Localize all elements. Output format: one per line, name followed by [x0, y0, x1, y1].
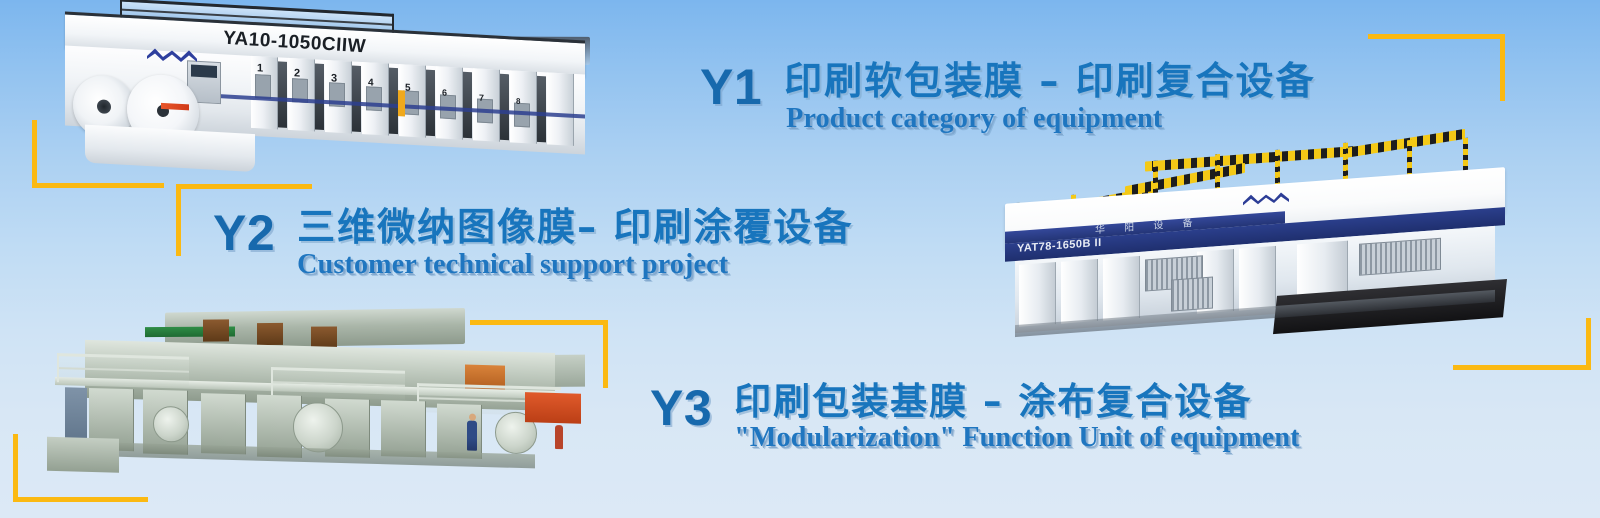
coater-orange-reel: [525, 392, 581, 424]
bracket-bottom-left-horizontal: [13, 497, 148, 502]
category-titles-y2: 三维微纳图像膜– 印刷涂覆设备 Customer technical suppo…: [297, 208, 853, 279]
press-unit-number: 7: [479, 93, 484, 103]
bracket-bottom-left-vertical: [13, 434, 18, 502]
category-row-y3: Y3 印刷包装基膜 – 涂布复合设备 "Modularization" Func…: [650, 383, 1300, 452]
press-unit-number: 8: [516, 97, 520, 106]
category-tag-y3: Y3: [650, 383, 712, 433]
equipment-category-banner: 1 2 3 4 5 6 7 8 YA10-1050CIIW: [0, 0, 1600, 518]
machine-photo-coating-line: 华 阳 设 备 YAT78-1650B II: [975, 148, 1520, 348]
press-unit-number: 5: [405, 82, 411, 93]
coater-foot-block: [47, 437, 119, 473]
category-tag-y1: Y1: [700, 62, 762, 112]
bracket-mid-left-horizontal: [176, 184, 312, 189]
category-tag-y2: Y2: [213, 208, 275, 258]
bracket-top-left-horizontal: [32, 183, 164, 188]
press-yellow-marker: [398, 90, 405, 116]
coater-operator-figure: [467, 421, 477, 451]
category-title-cn-y2: 三维微纳图像膜– 印刷涂覆设备: [297, 208, 853, 248]
press-unit-number: 6: [442, 88, 447, 98]
press-unit-number: 4: [368, 77, 374, 88]
press-unit-number: 1: [257, 62, 263, 74]
coater-operator-figure-2: [555, 425, 563, 449]
bracket-mid-lower-vertical: [603, 320, 608, 388]
category-titles-y1: 印刷软包装膜 – 印刷复合设备 Product category of equi…: [784, 62, 1315, 133]
machine-photo-paper-coater: [25, 298, 585, 488]
category-row-y1: Y1 印刷软包装膜 – 印刷复合设备 Product category of e…: [700, 62, 1316, 133]
category-titles-y3: 印刷包装基膜 – 涂布复合设备 "Modularization" Functio…: [734, 383, 1300, 452]
press-unit-number: 3: [331, 72, 337, 84]
category-title-en-y2: Customer technical support project: [297, 250, 853, 279]
category-title-en-y1: Product category of equipment: [786, 104, 1315, 133]
machine-photo-printing-press: 1 2 3 4 5 6 7 8 YA10-1050CIIW: [35, 8, 595, 183]
press-unit-number: 2: [294, 67, 300, 79]
bracket-bottom-right-vertical: [1586, 318, 1591, 370]
press-base-housing: [85, 125, 255, 173]
bracket-bottom-right-horizontal: [1453, 365, 1591, 370]
category-title-en-y3: "Modularization" Function Unit of equipm…: [734, 423, 1300, 452]
category-title-cn-y3: 印刷包装基膜 – 涂布复合设备: [734, 383, 1300, 422]
press-brand-logo: [143, 46, 201, 69]
bracket-mid-left-vertical: [176, 184, 181, 256]
category-title-cn-y1: 印刷软包装膜 – 印刷复合设备: [784, 62, 1315, 102]
category-row-y2: Y2 三维微纳图像膜– 印刷涂覆设备 Customer technical su…: [213, 208, 853, 279]
bracket-top-right-vertical: [1500, 34, 1505, 101]
bracket-top-right-horizontal: [1368, 34, 1505, 39]
